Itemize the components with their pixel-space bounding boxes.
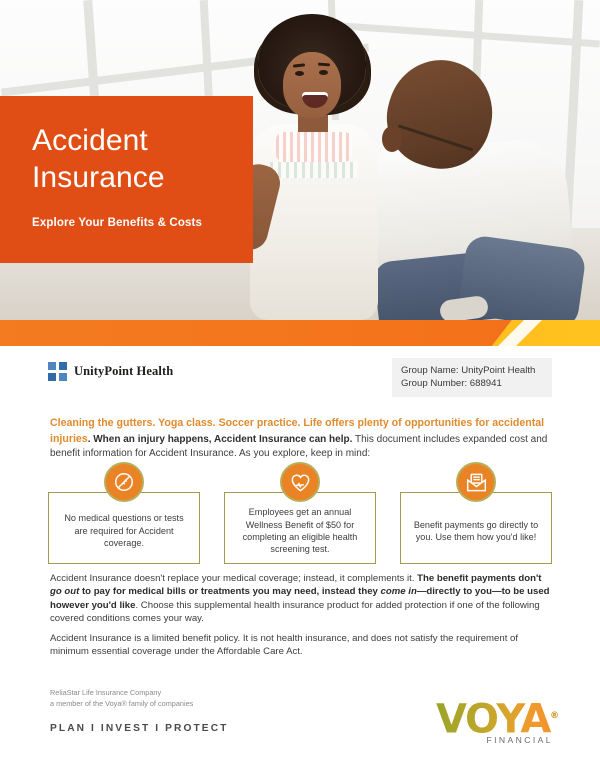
body-paragraph-2: Accident Insurance is a limited benefit …: [50, 632, 554, 659]
child-figure: [236, 14, 386, 320]
child-face: [283, 52, 341, 118]
headline-bold: . When an injury happens, Accident Insur…: [88, 434, 353, 445]
group-info-box: Group Name: UnityPoint Health Group Numb…: [392, 358, 552, 397]
registered-mark: ®: [550, 711, 558, 721]
open-envelope-icon: [456, 462, 496, 502]
child-eye: [319, 70, 328, 75]
group-number: Group Number: 688941: [401, 377, 543, 390]
feature-card: No medical questions or tests are requir…: [48, 492, 200, 564]
unitypoint-grid-icon: [48, 362, 67, 381]
child-eye: [295, 71, 304, 76]
legal-line-1: ReliaStar Life Insurance Company: [50, 688, 193, 699]
headline-paragraph: Cleaning the gutters. Yoga class. Soccer…: [50, 416, 554, 462]
feature-card-text: Employees get an annual Wellness Benefit…: [235, 506, 365, 556]
legal-line-2: a member of the Voya® family of companie…: [50, 699, 193, 710]
document-page: Accident Insurance Explore Your Benefits…: [0, 0, 600, 776]
father-figure: [352, 52, 600, 320]
unitypoint-logo: UnityPoint Health: [48, 362, 173, 381]
hero-subtitle: Explore Your Benefits & Costs: [32, 217, 253, 229]
unitypoint-logo-text: UnityPoint Health: [74, 364, 173, 379]
child-dress-trim: [270, 162, 358, 178]
body-paragraph-1: Accident Insurance doesn't replace your …: [50, 572, 554, 626]
orange-divider-band: [0, 320, 600, 346]
no-medical-tests-icon: [104, 462, 144, 502]
hero-title-line-2: Insurance: [32, 159, 253, 196]
identity-row: UnityPoint Health Group Name: UnityPoint…: [0, 358, 600, 392]
body-p1-d: to pay for medical bills or treatments y…: [79, 586, 380, 597]
hero-banner: Accident Insurance Explore Your Benefits…: [0, 0, 600, 320]
hero-title-line-1: Accident: [32, 122, 253, 159]
feature-cards: No medical questions or tests are requir…: [48, 482, 552, 564]
group-name: Group Name: UnityPoint Health: [401, 364, 543, 377]
feature-card: Employees get an annual Wellness Benefit…: [224, 492, 376, 564]
hero-title-block: Accident Insurance Explore Your Benefits…: [0, 96, 253, 263]
brand-tagline: PLAN I INVEST I PROTECT: [50, 723, 228, 734]
feature-card-text: No medical questions or tests are requir…: [59, 512, 189, 549]
body-p1-c: go out: [50, 586, 79, 597]
legal-text: ReliaStar Life Insurance Company a membe…: [50, 688, 193, 709]
body-p1-a: Accident Insurance doesn't replace your …: [50, 573, 417, 584]
feature-card: Benefit payments go directly to you. Use…: [400, 492, 552, 564]
child-dress-trim: [276, 132, 352, 162]
document-body: UnityPoint Health Group Name: UnityPoint…: [0, 346, 600, 776]
voya-wordmark: VOYA®: [436, 696, 556, 739]
heart-heartbeat-icon: [280, 462, 320, 502]
voya-logo: VOYA® FINANCIAL: [436, 696, 556, 745]
body-p1-b: The benefit payments don't: [417, 573, 541, 584]
body-p1-e: come in: [381, 586, 417, 597]
feature-card-text: Benefit payments go directly to you. Use…: [411, 519, 541, 544]
